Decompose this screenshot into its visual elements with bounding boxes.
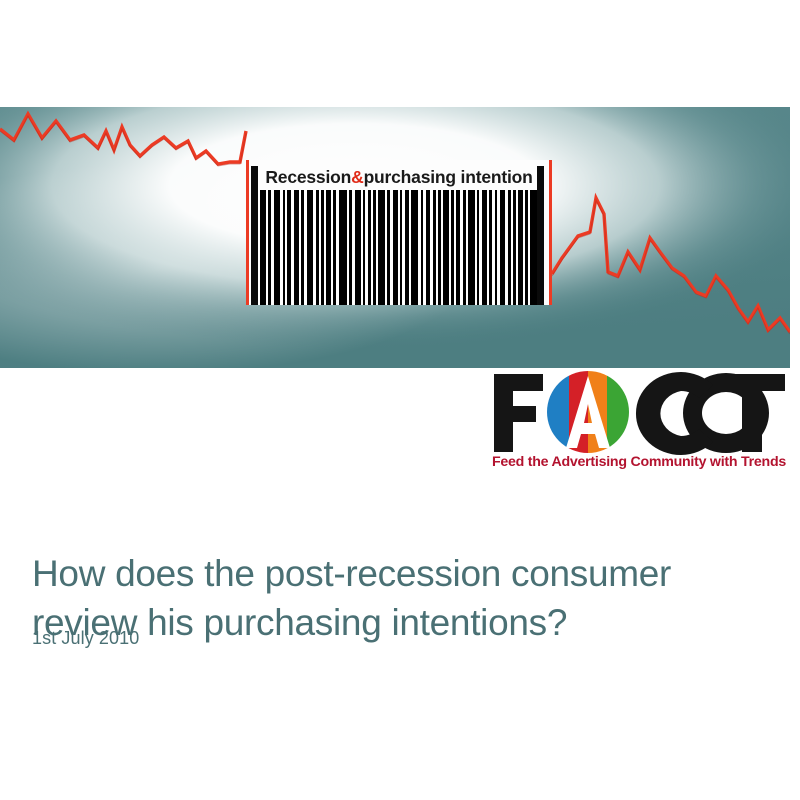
logo-letter-f <box>494 374 543 452</box>
barcode-right-red-edge <box>549 160 552 305</box>
barcode-label-prefix: Recession <box>265 169 351 187</box>
barcode-bar <box>339 190 347 305</box>
barcode-bar <box>411 190 418 305</box>
fact-logo-mark <box>488 370 790 456</box>
barcode-left-guard-bar <box>251 166 258 305</box>
barcode-right-guard-bar <box>537 166 544 305</box>
logo-letter-a-wheel <box>547 371 630 453</box>
slide-date: 1st July 2010 <box>32 628 139 649</box>
fact-logo-tagline: Feed the Advertising Community with Tren… <box>488 454 790 470</box>
barcode-label-suffix: purchasing intention <box>364 169 533 187</box>
slide-title: How does the post-recession consumer rev… <box>32 549 772 647</box>
barcode-label: Recession & purchasing intention <box>246 164 552 192</box>
barcode-bars <box>246 190 552 305</box>
barcode-graphic: Recession & purchasing intention <box>246 160 552 305</box>
barcode-label-ampersand: & <box>351 169 363 187</box>
barcode-left-red-edge <box>246 160 249 305</box>
fact-logo: Feed the Advertising Community with Tren… <box>488 370 790 480</box>
